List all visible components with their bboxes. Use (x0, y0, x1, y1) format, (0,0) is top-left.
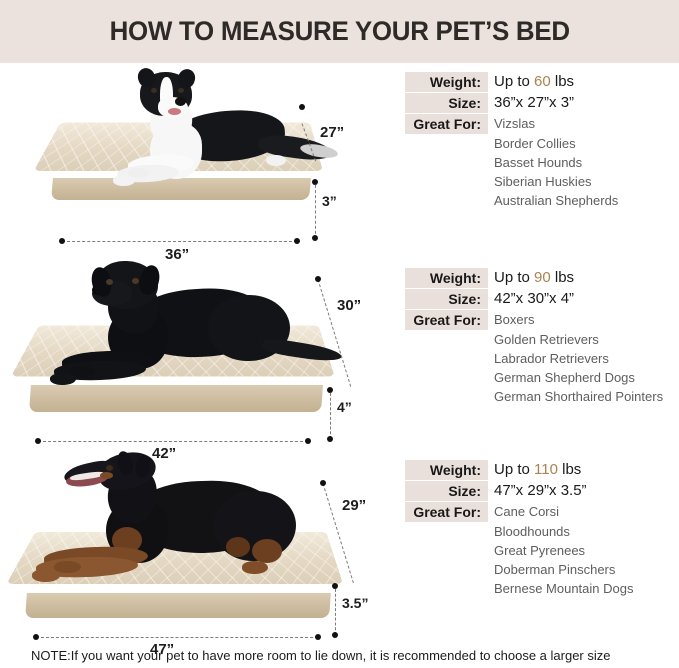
breed-row: Doberman Pinschers (405, 560, 679, 579)
weight-number: 110 (534, 461, 558, 478)
spacer (405, 368, 488, 388)
breed-row: Labrador Retrievers (405, 349, 679, 368)
bed-row-medium: 42” 30” 4” Weight: Up to 90 lbs Size: 42… (0, 259, 679, 451)
dimension-dot (59, 238, 65, 244)
bed-side-panel (51, 178, 311, 200)
spec-panel-small: Weight: Up to 60 lbs Size: 36”x 27”x 3” … (405, 63, 679, 259)
spec-greatfor-row: Great For: Boxers (405, 309, 679, 330)
breed-item: Doberman Pinschers (494, 562, 615, 577)
spacer (405, 522, 488, 542)
breed-item: German Shorthaired Pointers (494, 389, 663, 404)
spec-panel-medium: Weight: Up to 90 lbs Size: 42”x 30”x 4” … (405, 259, 679, 451)
dimension-line-length (38, 441, 308, 442)
breed-item: Great Pyrenees (494, 543, 585, 558)
dimension-dot (327, 436, 333, 442)
spec-size-row: Size: 36”x 27”x 3” (405, 92, 679, 113)
spec-value-weight: Up to 110 lbs (494, 461, 581, 478)
breed-item: Bernese Mountain Dogs (494, 581, 633, 596)
breed-item: Basset Hounds (494, 155, 582, 170)
spacer (405, 349, 488, 369)
spec-label-weight: Weight: (405, 460, 488, 480)
spec-size-row: Size: 47”x 29”x 3.5” (405, 480, 679, 501)
spacer (405, 541, 488, 561)
dimension-dot (320, 480, 326, 486)
spec-value-size: 42”x 30”x 4” (494, 290, 574, 307)
breed-row: Australian Shepherds (405, 191, 679, 210)
dimension-label-height: 3” (322, 193, 337, 209)
dimension-label-width: 27” (320, 124, 344, 141)
spec-weight-row: Weight: Up to 60 lbs (405, 71, 679, 92)
spacer (405, 172, 488, 192)
breed-row: Bloodhounds (405, 522, 679, 541)
breed-row: Great Pyrenees (405, 541, 679, 560)
bed-illustration-medium: 42” 30” 4” (0, 259, 405, 451)
spec-value-weight: Up to 60 lbs (494, 73, 574, 90)
breed-row: Border Collies (405, 134, 679, 153)
weight-suffix: lbs (551, 269, 574, 286)
spec-label-size: Size: (405, 481, 488, 501)
spacer (405, 330, 488, 350)
breed-item: Bloodhounds (494, 524, 570, 539)
spacer (405, 153, 488, 173)
breed-item: German Shepherd Dogs (494, 370, 635, 385)
breed-row: Siberian Huskies (405, 172, 679, 191)
dimension-dot (315, 276, 321, 282)
page-header: HOW TO MEASURE YOUR PET’S BED (0, 0, 679, 63)
spec-greatfor-row: Great For: Cane Corsi (405, 501, 679, 522)
page-title: HOW TO MEASURE YOUR PET’S BED (109, 16, 569, 47)
dimension-dot (315, 634, 321, 640)
dimension-dot (33, 634, 39, 640)
breed-item: Vizslas (494, 116, 535, 131)
spec-value-weight: Up to 90 lbs (494, 269, 574, 286)
bed-side-panel (25, 593, 331, 618)
dimension-line-length (62, 241, 297, 242)
dimension-line-height (330, 393, 331, 439)
spec-label-weight: Weight: (405, 72, 488, 92)
breed-item: Golden Retrievers (494, 332, 599, 347)
spec-value-size: 36”x 27”x 3” (494, 94, 574, 111)
spacer (405, 191, 488, 211)
breed-item: Siberian Huskies (494, 174, 592, 189)
spacer (405, 560, 488, 580)
breed-row: German Shorthaired Pointers (405, 387, 679, 406)
weight-prefix: Up to (494, 269, 534, 286)
breed-item: Australian Shepherds (494, 193, 618, 208)
dimension-label-height: 3.5” (342, 595, 368, 611)
weight-number: 90 (534, 269, 551, 286)
weight-prefix: Up to (494, 461, 534, 478)
breed-item: Cane Corsi (494, 504, 559, 519)
bed-side-panel (29, 385, 323, 412)
breed-item: Border Collies (494, 136, 576, 151)
dimension-label-width: 29” (342, 497, 366, 514)
bed-row-small: 36” 27” 3” Weight: Up to 60 lbs Size: 36… (0, 63, 679, 259)
weight-prefix: Up to (494, 73, 534, 90)
spec-value-size: 47”x 29”x 3.5” (494, 482, 587, 499)
footer-note: NOTE:If you want your pet to have more r… (31, 648, 611, 663)
spacer (405, 387, 488, 407)
breed-row: Basset Hounds (405, 153, 679, 172)
spacer (405, 134, 488, 154)
bed-row-large: 47” 29” 3.5” Weight: Up to 110 lbs Size:… (0, 451, 679, 647)
dimension-line-height (335, 589, 336, 635)
bed-illustration-small: 36” 27” 3” (0, 63, 405, 259)
dimension-dot (332, 632, 338, 638)
weight-suffix: lbs (558, 461, 581, 478)
breed-row: Golden Retrievers (405, 330, 679, 349)
weight-suffix: lbs (551, 73, 574, 90)
spec-size-row: Size: 42”x 30”x 4” (405, 288, 679, 309)
dimension-dot (312, 235, 318, 241)
spec-label-size: Size: (405, 93, 488, 113)
dimension-dot (305, 438, 311, 444)
spec-label-weight: Weight: (405, 268, 488, 288)
spec-weight-row: Weight: Up to 90 lbs (405, 267, 679, 288)
breed-item: Labrador Retrievers (494, 351, 609, 366)
spec-panel-large: Weight: Up to 110 lbs Size: 47”x 29”x 3.… (405, 451, 679, 647)
dimension-dot (294, 238, 300, 244)
spacer (405, 579, 488, 599)
dimension-label-width: 30” (337, 297, 361, 314)
dimension-line-height (315, 185, 316, 239)
dimension-dot (35, 438, 41, 444)
breed-row: Bernese Mountain Dogs (405, 579, 679, 598)
spec-label-great-for: Great For: (405, 502, 488, 522)
spec-label-great-for: Great For: (405, 114, 488, 134)
spec-greatfor-row: Great For: Vizslas (405, 113, 679, 134)
weight-number: 60 (534, 73, 551, 90)
spec-label-great-for: Great For: (405, 310, 488, 330)
dimension-dot (299, 104, 305, 110)
spec-weight-row: Weight: Up to 110 lbs (405, 459, 679, 480)
breed-row: German Shepherd Dogs (405, 368, 679, 387)
dimension-label-height: 4” (337, 399, 352, 415)
spec-label-size: Size: (405, 289, 488, 309)
dimension-line-length (36, 637, 318, 638)
breed-item: Boxers (494, 312, 534, 327)
bed-illustration-large: 47” 29” 3.5” (0, 451, 405, 647)
